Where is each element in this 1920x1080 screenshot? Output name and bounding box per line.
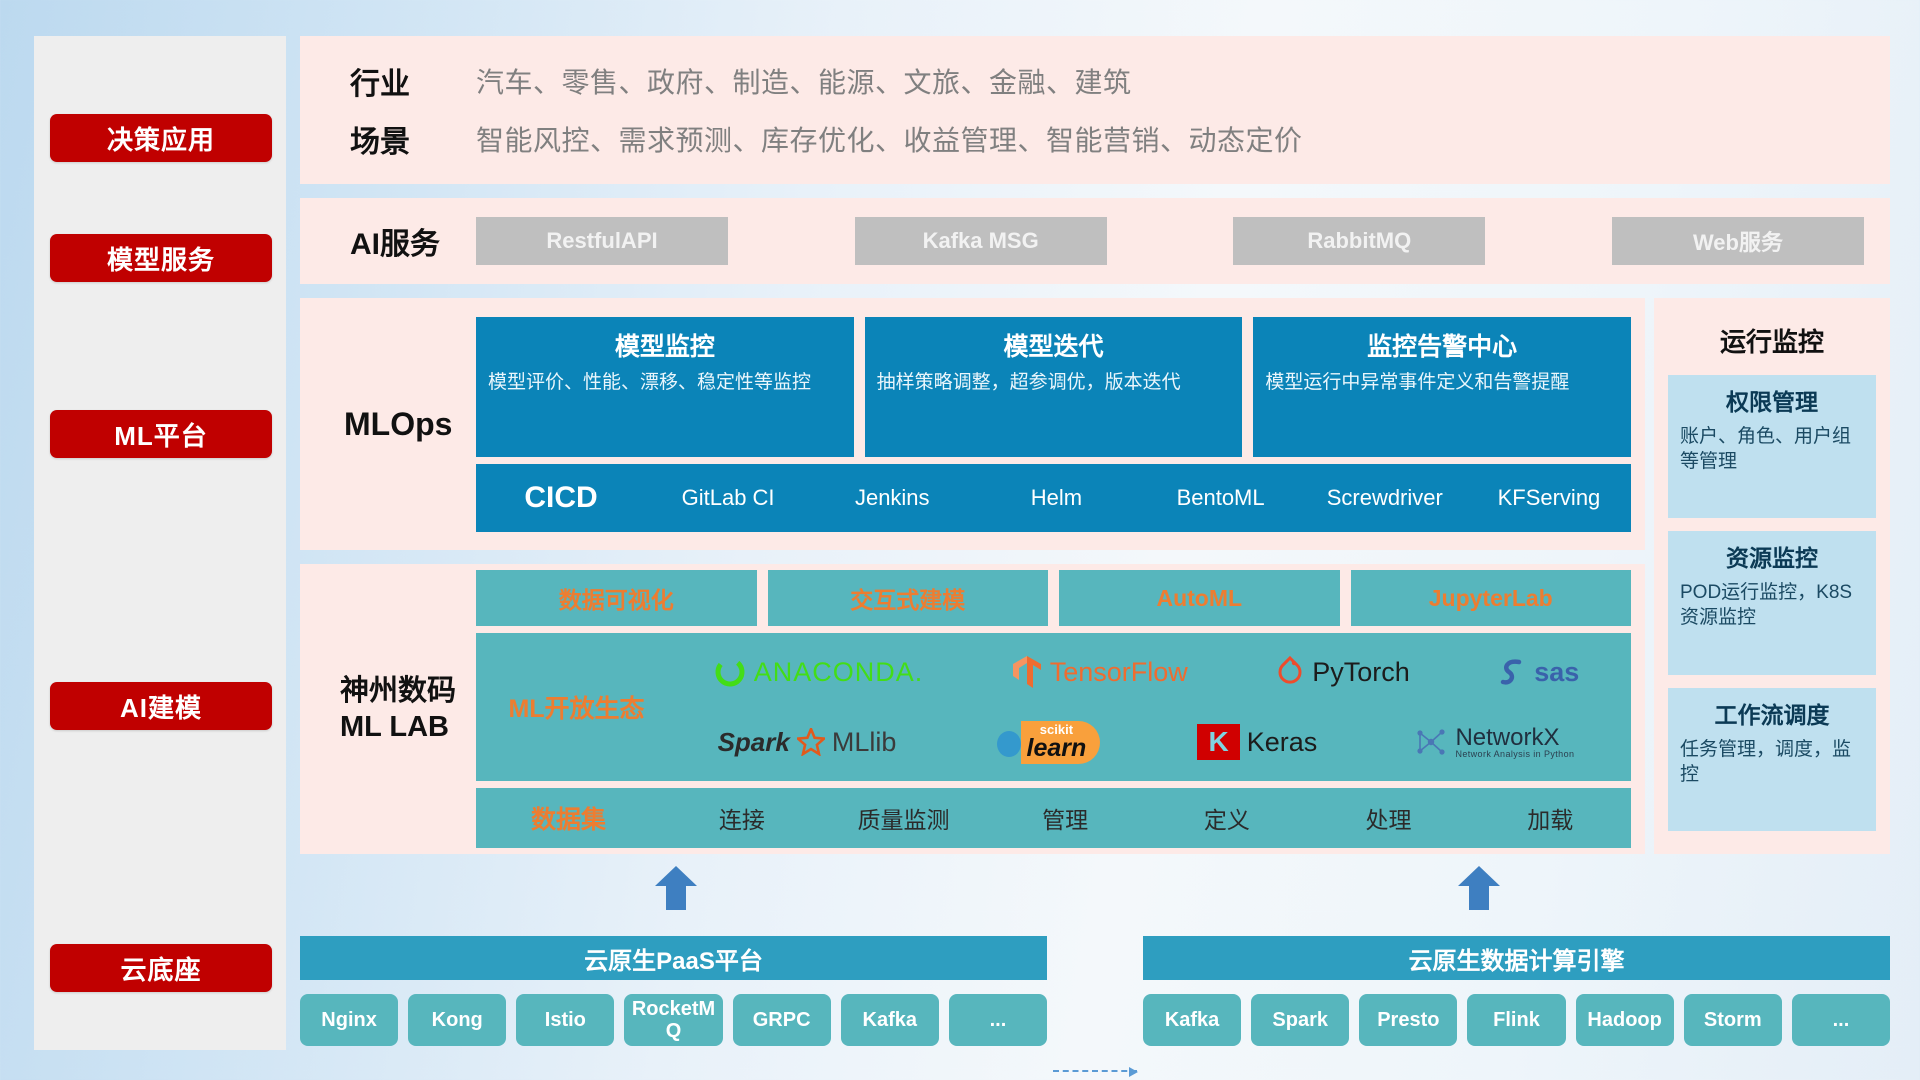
mlops-card-model-iteration[interactable]: 模型迭代 抽样策略调整，超参调优，版本迭代 — [865, 317, 1243, 457]
tensorflow-mark-icon — [1011, 654, 1043, 690]
networkx-logo-textblock: NetworkX Network Analysis in Python — [1455, 725, 1574, 760]
mlops-band: MLOps 模型监控 模型评价、性能、漂移、稳定性等监控 模型迭代 抽样策略调整… — [300, 298, 1645, 550]
industry-label: 行业 — [326, 59, 476, 103]
modeling-tab-automl[interactable]: AutoML — [1059, 570, 1340, 626]
upward-arrow-left-icon — [655, 866, 697, 910]
networkx-graph-icon — [1414, 726, 1448, 758]
ml-ecosystem-row: ML开放生态 ANACONDA. — [476, 633, 1631, 781]
cicd-item-gitlab-ci[interactable]: GitLab CI — [646, 485, 810, 510]
dataset-row: 数据集 连接 质量监测 管理 定义 处理 加载 — [476, 788, 1631, 848]
ml-ecosystem-label: ML开放生态 — [484, 689, 669, 725]
networkx-logo: NetworkX Network Analysis in Python — [1414, 725, 1574, 760]
card-desc: 任务管理，调度，监控 — [1680, 737, 1864, 787]
cloud-chip-more[interactable]: ... — [949, 994, 1047, 1046]
band-spacer — [300, 184, 1890, 198]
cicd-strip: CICD GitLab CI Jenkins Helm BentoML Scre… — [476, 464, 1631, 532]
scikit-learn-logo-badge: scikit learn — [1021, 721, 1101, 764]
modeling-tab-jupyterlab[interactable]: JupyterLab — [1351, 570, 1632, 626]
dataset-item-management[interactable]: 管理 — [984, 801, 1146, 835]
card-desc: 模型评价、性能、漂移、稳定性等监控 — [488, 371, 842, 396]
logo-line-1: ANACONDA. TensorFlow — [669, 639, 1623, 705]
dataset-item-definition[interactable]: 定义 — [1146, 801, 1308, 835]
cloud-chip-kafka[interactable]: Kafka — [841, 994, 939, 1046]
sas-logo-text: sas — [1534, 657, 1579, 688]
upward-arrow-right-icon — [1458, 866, 1500, 910]
main-column: 行业 汽车、零售、政府、制造、能源、文旅、金融、建筑 场景 智能风控、需求预测、… — [300, 36, 1890, 1050]
cloud-chip-kafka-engine[interactable]: Kafka — [1143, 994, 1241, 1046]
ai-modeling-band: 神州数码 ML LAB 数据可视化 交互式建模 AutoML JupyterLa… — [300, 564, 1645, 854]
industry-values: 汽车、零售、政府、制造、能源、文旅、金融、建筑 — [476, 61, 1132, 101]
spark-star-icon — [797, 728, 825, 756]
ai-service-chip-restfulapi[interactable]: RestfulAPI — [476, 217, 728, 265]
cloud-data-engine-chip-list: Kafka Spark Presto Flink Hadoop Storm ..… — [1143, 980, 1890, 1046]
ai-service-band: AI服务 RestfulAPI Kafka MSG RabbitMQ Web服务 — [300, 198, 1890, 284]
mllib-logo-text: MLlib — [832, 727, 897, 758]
rail-item-ai-modeling[interactable]: AI建模 — [50, 682, 272, 730]
card-desc: POD运行监控，K8S资源监控 — [1680, 580, 1864, 630]
keras-mark-icon: K — [1197, 724, 1239, 760]
ai-service-chip-kafka-msg[interactable]: Kafka MSG — [855, 217, 1107, 265]
cicd-item-jenkins[interactable]: Jenkins — [810, 485, 974, 510]
cicd-item-list: GitLab CI Jenkins Helm BentoML Screwdriv… — [646, 485, 1631, 510]
keras-logo-text: Keras — [1247, 727, 1318, 758]
cloud-paas-header: 云原生PaaS平台 — [300, 936, 1047, 980]
cicd-item-bentoml[interactable]: BentoML — [1139, 485, 1303, 510]
cloud-chip-more-engine[interactable]: ... — [1792, 994, 1890, 1046]
runtime-monitoring-panel: 运行监控 权限管理 账户、角色、用户组等管理 资源监控 POD运行监控，K8S资… — [1654, 298, 1890, 854]
scenario-row: 场景 智能风控、需求预测、库存优化、收益管理、智能营销、动态定价 — [326, 117, 1864, 161]
modeling-tab-data-visualization[interactable]: 数据可视化 — [476, 570, 757, 626]
cloud-chip-kong[interactable]: Kong — [408, 994, 506, 1046]
ml-ecosystem-logos: ANACONDA. TensorFlow — [669, 639, 1623, 775]
cicd-label: CICD — [476, 481, 646, 515]
ai-service-chip-web-service[interactable]: Web服务 — [1612, 217, 1864, 265]
card-title: 模型迭代 — [877, 327, 1231, 363]
cicd-item-helm[interactable]: Helm — [974, 485, 1138, 510]
cloud-chip-storm[interactable]: Storm — [1684, 994, 1782, 1046]
architecture-diagram: 决策应用 模型服务 ML平台 AI建模 云底座 行业 汽车、零售、政府、制造、能… — [0, 0, 1920, 1080]
learn-logo-text: learn — [1027, 736, 1087, 761]
monitor-card-permission-management[interactable]: 权限管理 账户、角色、用户组等管理 — [1668, 375, 1876, 518]
cloud-data-engine-header: 云原生数据计算引擎 — [1143, 936, 1890, 980]
keras-logo: K Keras — [1197, 724, 1317, 760]
rail-item-cloud-foundation[interactable]: 云底座 — [50, 944, 272, 992]
dashed-arrow-right-icon — [1053, 1070, 1137, 1072]
rail-item-ml-platform[interactable]: ML平台 — [50, 410, 272, 458]
ml-lab-label-line2: ML LAB — [340, 709, 476, 745]
rail-item-label: 模型服务 — [107, 240, 215, 277]
platform-body: MLOps 模型监控 模型评价、性能、漂移、稳定性等监控 模型迭代 抽样策略调整… — [300, 298, 1890, 854]
apache-spark-mllib-logo: Spark MLlib — [718, 727, 897, 758]
rail-item-label: AI建模 — [120, 688, 202, 725]
dataset-item-list: 连接 质量监测 管理 定义 处理 加载 — [661, 801, 1631, 835]
cloud-chip-rocketmq[interactable]: RocketMQ — [624, 994, 722, 1046]
sas-logo: sas — [1497, 656, 1579, 688]
card-title: 工作流调度 — [1680, 696, 1864, 730]
dataset-label: 数据集 — [476, 800, 661, 836]
ai-service-label: AI服务 — [326, 219, 476, 263]
dataset-item-loading[interactable]: 加载 — [1469, 801, 1631, 835]
rail-item-label: 决策应用 — [107, 120, 215, 157]
modeling-tab-interactive-modeling[interactable]: 交互式建模 — [768, 570, 1049, 626]
card-title: 权限管理 — [1680, 383, 1864, 417]
cloud-paas-column: 云原生PaaS平台 Nginx Kong Istio RocketMQ GRPC… — [300, 936, 1047, 1046]
card-title: 监控告警中心 — [1265, 327, 1619, 363]
rail-item-label: ML平台 — [114, 416, 208, 453]
dataset-item-quality-monitoring[interactable]: 质量监测 — [823, 801, 985, 835]
scikit-learn-logo: scikit learn — [994, 721, 1101, 764]
rail-item-label: 云底座 — [120, 950, 201, 987]
rail-item-model-service[interactable]: 模型服务 — [50, 234, 272, 282]
anaconda-ring-icon — [713, 655, 747, 689]
card-title: 资源监控 — [1680, 539, 1864, 573]
cloud-chip-grpc[interactable]: GRPC — [733, 994, 831, 1046]
dataset-item-processing[interactable]: 处理 — [1308, 801, 1470, 835]
tensorflow-logo: TensorFlow — [1011, 654, 1188, 690]
card-desc: 模型运行中异常事件定义和告警提醒 — [1265, 371, 1619, 396]
cloud-chip-nginx[interactable]: Nginx — [300, 994, 398, 1046]
mlops-card-model-monitoring[interactable]: 模型监控 模型评价、性能、漂移、稳定性等监控 — [476, 317, 854, 457]
networkx-logo-tagline: Network Analysis in Python — [1455, 750, 1574, 759]
mlops-label: MLOps — [326, 406, 476, 443]
mlops-content: 模型监控 模型评价、性能、漂移、稳定性等监控 模型迭代 抽样策略调整，超参调优，… — [476, 317, 1631, 532]
networkx-logo-text: NetworkX — [1455, 725, 1574, 750]
layer-rail: 决策应用 模型服务 ML平台 AI建模 云底座 — [34, 36, 286, 1050]
ml-lab-label: 神州数码 ML LAB — [326, 673, 476, 746]
cicd-item-screwdriver[interactable]: Screwdriver — [1303, 485, 1467, 510]
rail-item-decision-application[interactable]: 决策应用 — [50, 114, 272, 162]
monitor-card-resource-monitoring[interactable]: 资源监控 POD运行监控，K8S资源监控 — [1668, 531, 1876, 674]
cloud-chip-hadoop[interactable]: Hadoop — [1576, 994, 1674, 1046]
ml-lab-label-line1: 神州数码 — [340, 673, 476, 709]
anaconda-logo: ANACONDA. — [713, 655, 924, 689]
cloud-chip-presto[interactable]: Presto — [1359, 994, 1457, 1046]
logo-line-2: Spark MLlib — [669, 709, 1623, 775]
modeling-tab-list: 数据可视化 交互式建模 AutoML JupyterLab — [476, 570, 1631, 626]
anaconda-logo-text: ANACONDA. — [754, 657, 924, 688]
decision-application-band: 行业 汽车、零售、政府、制造、能源、文旅、金融、建筑 场景 智能风控、需求预测、… — [300, 36, 1890, 184]
ai-modeling-content: 数据可视化 交互式建模 AutoML JupyterLab ML开放生态 — [476, 570, 1631, 848]
band-spacer — [300, 284, 1890, 298]
cicd-item-kfserving[interactable]: KFServing — [1467, 485, 1631, 510]
cloud-data-engine-column: 云原生数据计算引擎 Kafka Spark Presto Flink Hadoo… — [1143, 936, 1890, 1046]
ai-service-chip-list: RestfulAPI Kafka MSG RabbitMQ Web服务 — [476, 217, 1864, 265]
scenario-values: 智能风控、需求预测、库存优化、收益管理、智能营销、动态定价 — [476, 119, 1303, 159]
card-title: 模型监控 — [488, 327, 842, 363]
tensorflow-logo-text: TensorFlow — [1050, 657, 1188, 688]
ai-service-chip-rabbitmq[interactable]: RabbitMQ — [1233, 217, 1485, 265]
industry-row: 行业 汽车、零售、政府、制造、能源、文旅、金融、建筑 — [326, 59, 1864, 103]
mlops-card-list: 模型监控 模型评价、性能、漂移、稳定性等监控 模型迭代 抽样策略调整，超参调优，… — [476, 317, 1631, 457]
scenario-label: 场景 — [326, 117, 476, 161]
cloud-foundation-band: 云原生PaaS平台 Nginx Kong Istio RocketMQ GRPC… — [300, 854, 1890, 1050]
pytorch-flame-icon — [1275, 655, 1305, 689]
platform-body-left: MLOps 模型监控 模型评价、性能、漂移、稳定性等监控 模型迭代 抽样策略调整… — [300, 298, 1645, 854]
pytorch-logo-text: PyTorch — [1312, 657, 1410, 688]
band-spacer — [300, 550, 1645, 564]
monitor-card-workflow-scheduling[interactable]: 工作流调度 任务管理，调度，监控 — [1668, 688, 1876, 831]
cloud-chip-flink[interactable]: Flink — [1467, 994, 1565, 1046]
card-desc: 账户、角色、用户组等管理 — [1680, 424, 1864, 474]
spark-logo-text: Spark — [718, 727, 790, 758]
cloud-paas-chip-list: Nginx Kong Istio RocketMQ GRPC Kafka ... — [300, 980, 1047, 1046]
runtime-monitoring-title: 运行监控 — [1668, 312, 1876, 375]
sas-mark-icon — [1497, 656, 1527, 688]
cloud-chip-spark[interactable]: Spark — [1251, 994, 1349, 1046]
card-desc: 抽样策略调整，超参调优，版本迭代 — [877, 371, 1231, 396]
cloud-chip-istio[interactable]: Istio — [516, 994, 614, 1046]
dataset-item-connect[interactable]: 连接 — [661, 801, 823, 835]
pytorch-logo: PyTorch — [1275, 655, 1410, 689]
mlops-card-alert-center[interactable]: 监控告警中心 模型运行中异常事件定义和告警提醒 — [1253, 317, 1631, 457]
